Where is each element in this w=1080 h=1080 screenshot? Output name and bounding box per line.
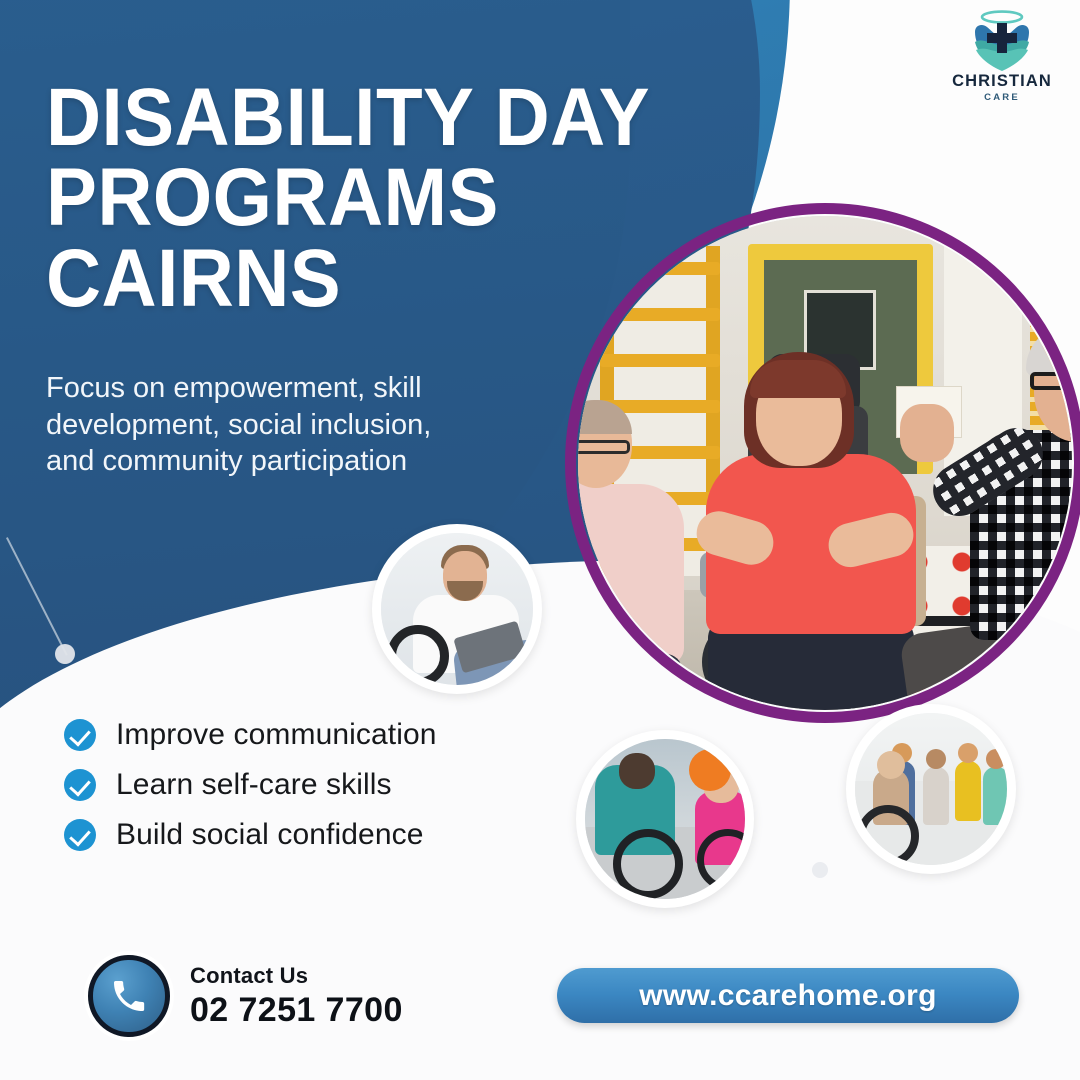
website-url-label: www.ccarehome.org xyxy=(639,979,936,1013)
contact-block[interactable]: Contact Us 02 7251 7700 xyxy=(88,955,403,1037)
headline-line-3: CAIRNS xyxy=(46,239,688,319)
page-title: DISABILITY DAY PROGRAMS CAIRNS xyxy=(46,78,688,319)
photo-person-center xyxy=(688,346,938,710)
decorative-dot xyxy=(55,644,75,664)
list-item: Build social confidence xyxy=(64,818,437,852)
logo-brand-name: CHRISTIAN xyxy=(946,73,1058,90)
check-circle-icon xyxy=(64,719,96,751)
mini-photo-wheelchair-basketball xyxy=(576,730,754,908)
brand-logo[interactable]: CHRISTIAN CARE xyxy=(946,10,1058,103)
headline-line-2: PROGRAMS xyxy=(46,158,688,238)
headline-line-1: DISABILITY DAY xyxy=(46,78,688,158)
phone-icon[interactable] xyxy=(88,955,170,1037)
list-item-label: Build social confidence xyxy=(116,818,424,852)
heart-wings-cross-halo-icon xyxy=(963,10,1041,72)
photo-person-left xyxy=(578,404,692,710)
logo-brand-tagline: CARE xyxy=(946,92,1058,103)
benefits-list: Improve communication Learn self-care sk… xyxy=(64,718,437,868)
list-item: Improve communication xyxy=(64,718,437,752)
contact-label: Contact Us xyxy=(190,963,403,989)
list-item-label: Learn self-care skills xyxy=(116,768,392,802)
mini-photo-man-with-laptop xyxy=(372,524,542,694)
poster-canvas: CHRISTIAN CARE DISABILITY DAY PROGRAMS C… xyxy=(0,0,1080,1080)
contact-phone-number[interactable]: 02 7251 7700 xyxy=(190,991,403,1030)
website-button[interactable]: www.ccarehome.org xyxy=(557,968,1019,1023)
list-item: Learn self-care skills xyxy=(64,768,437,802)
mini-photo-group-hands-together xyxy=(846,704,1016,874)
phone-glyph xyxy=(109,976,149,1016)
photo-person-right xyxy=(948,326,1072,710)
subheadline: Focus on empowerment, skill development,… xyxy=(46,370,446,480)
decorative-dot-secondary xyxy=(812,862,828,878)
check-circle-icon xyxy=(64,769,96,801)
list-item-label: Improve communication xyxy=(116,718,437,752)
check-circle-icon xyxy=(64,819,96,851)
